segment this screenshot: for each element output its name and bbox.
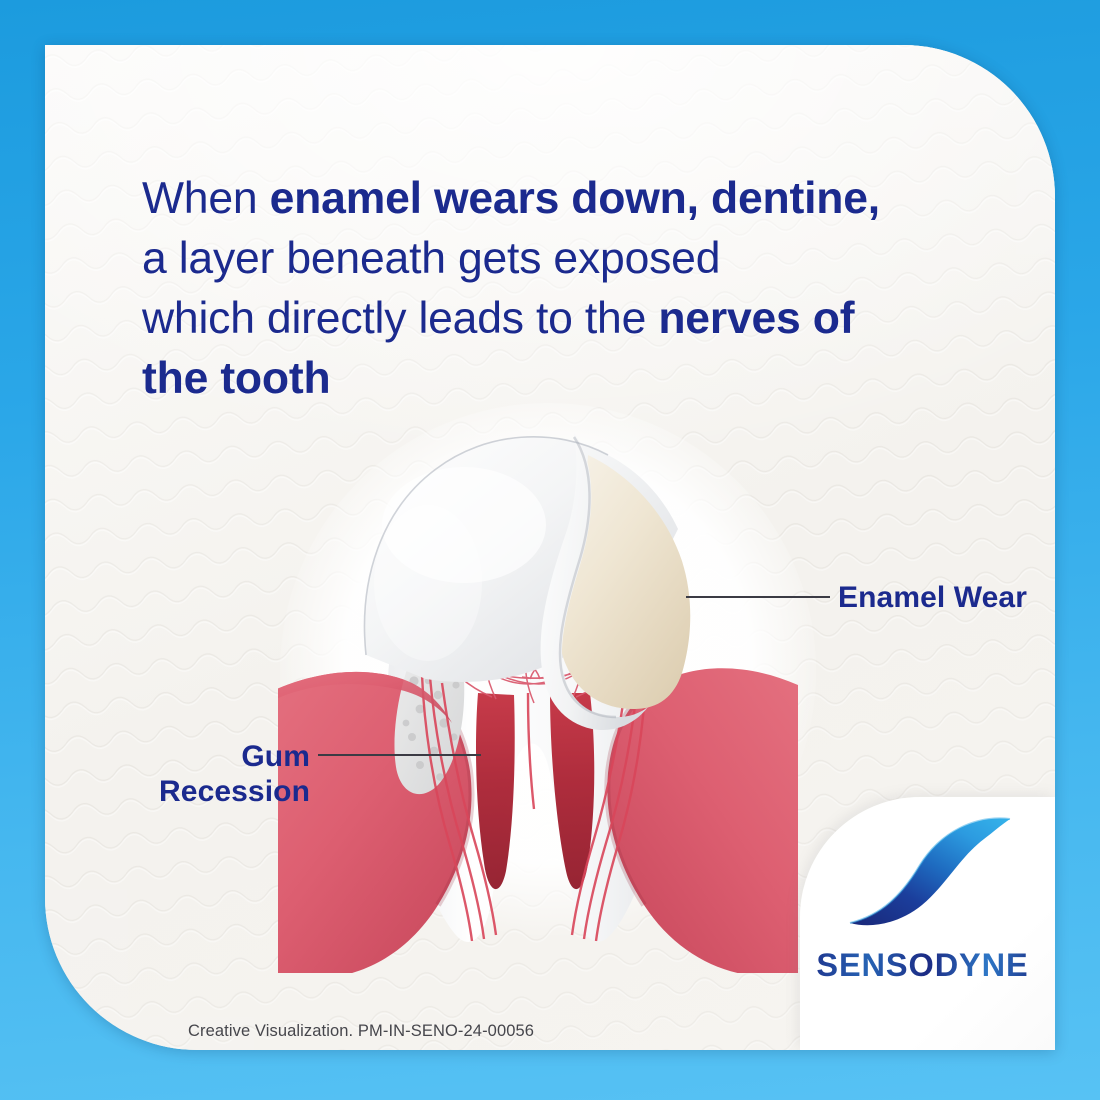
brand-logo-panel: SENSODYNE (800, 797, 1055, 1050)
callout-label-gum-line2: Recession (159, 775, 310, 808)
tooth-cross-section-illustration (278, 393, 818, 973)
callout-label-gum-line1: Gum (241, 740, 310, 773)
headline-line-2: a layer beneath gets exposed (142, 234, 720, 283)
legal-disclaimer: Creative Visualization. PM-IN-SENO-24-00… (188, 1022, 534, 1041)
content-card: When enamel wears down, dentine, a layer… (45, 45, 1055, 1050)
headline-line-1-plain: When (142, 174, 270, 223)
headline-line-3-plain: which directly leads to the (142, 294, 658, 343)
headline-line-3-bold: nerves of (658, 294, 854, 343)
callout-label-gum-recession: Gum Recession (150, 739, 310, 809)
leader-line-enamel (686, 596, 830, 598)
brand-wordmark: SENSODYNE (800, 947, 1045, 984)
callout-label-enamel-wear: Enamel Wear (838, 580, 1027, 615)
page-title: When enamel wears down, dentine, a layer… (142, 169, 1012, 409)
headline-line-1-bold: enamel wears down, dentine, (270, 174, 880, 223)
leader-line-gum (318, 754, 481, 756)
sensodyne-swoosh-icon (824, 811, 1024, 946)
